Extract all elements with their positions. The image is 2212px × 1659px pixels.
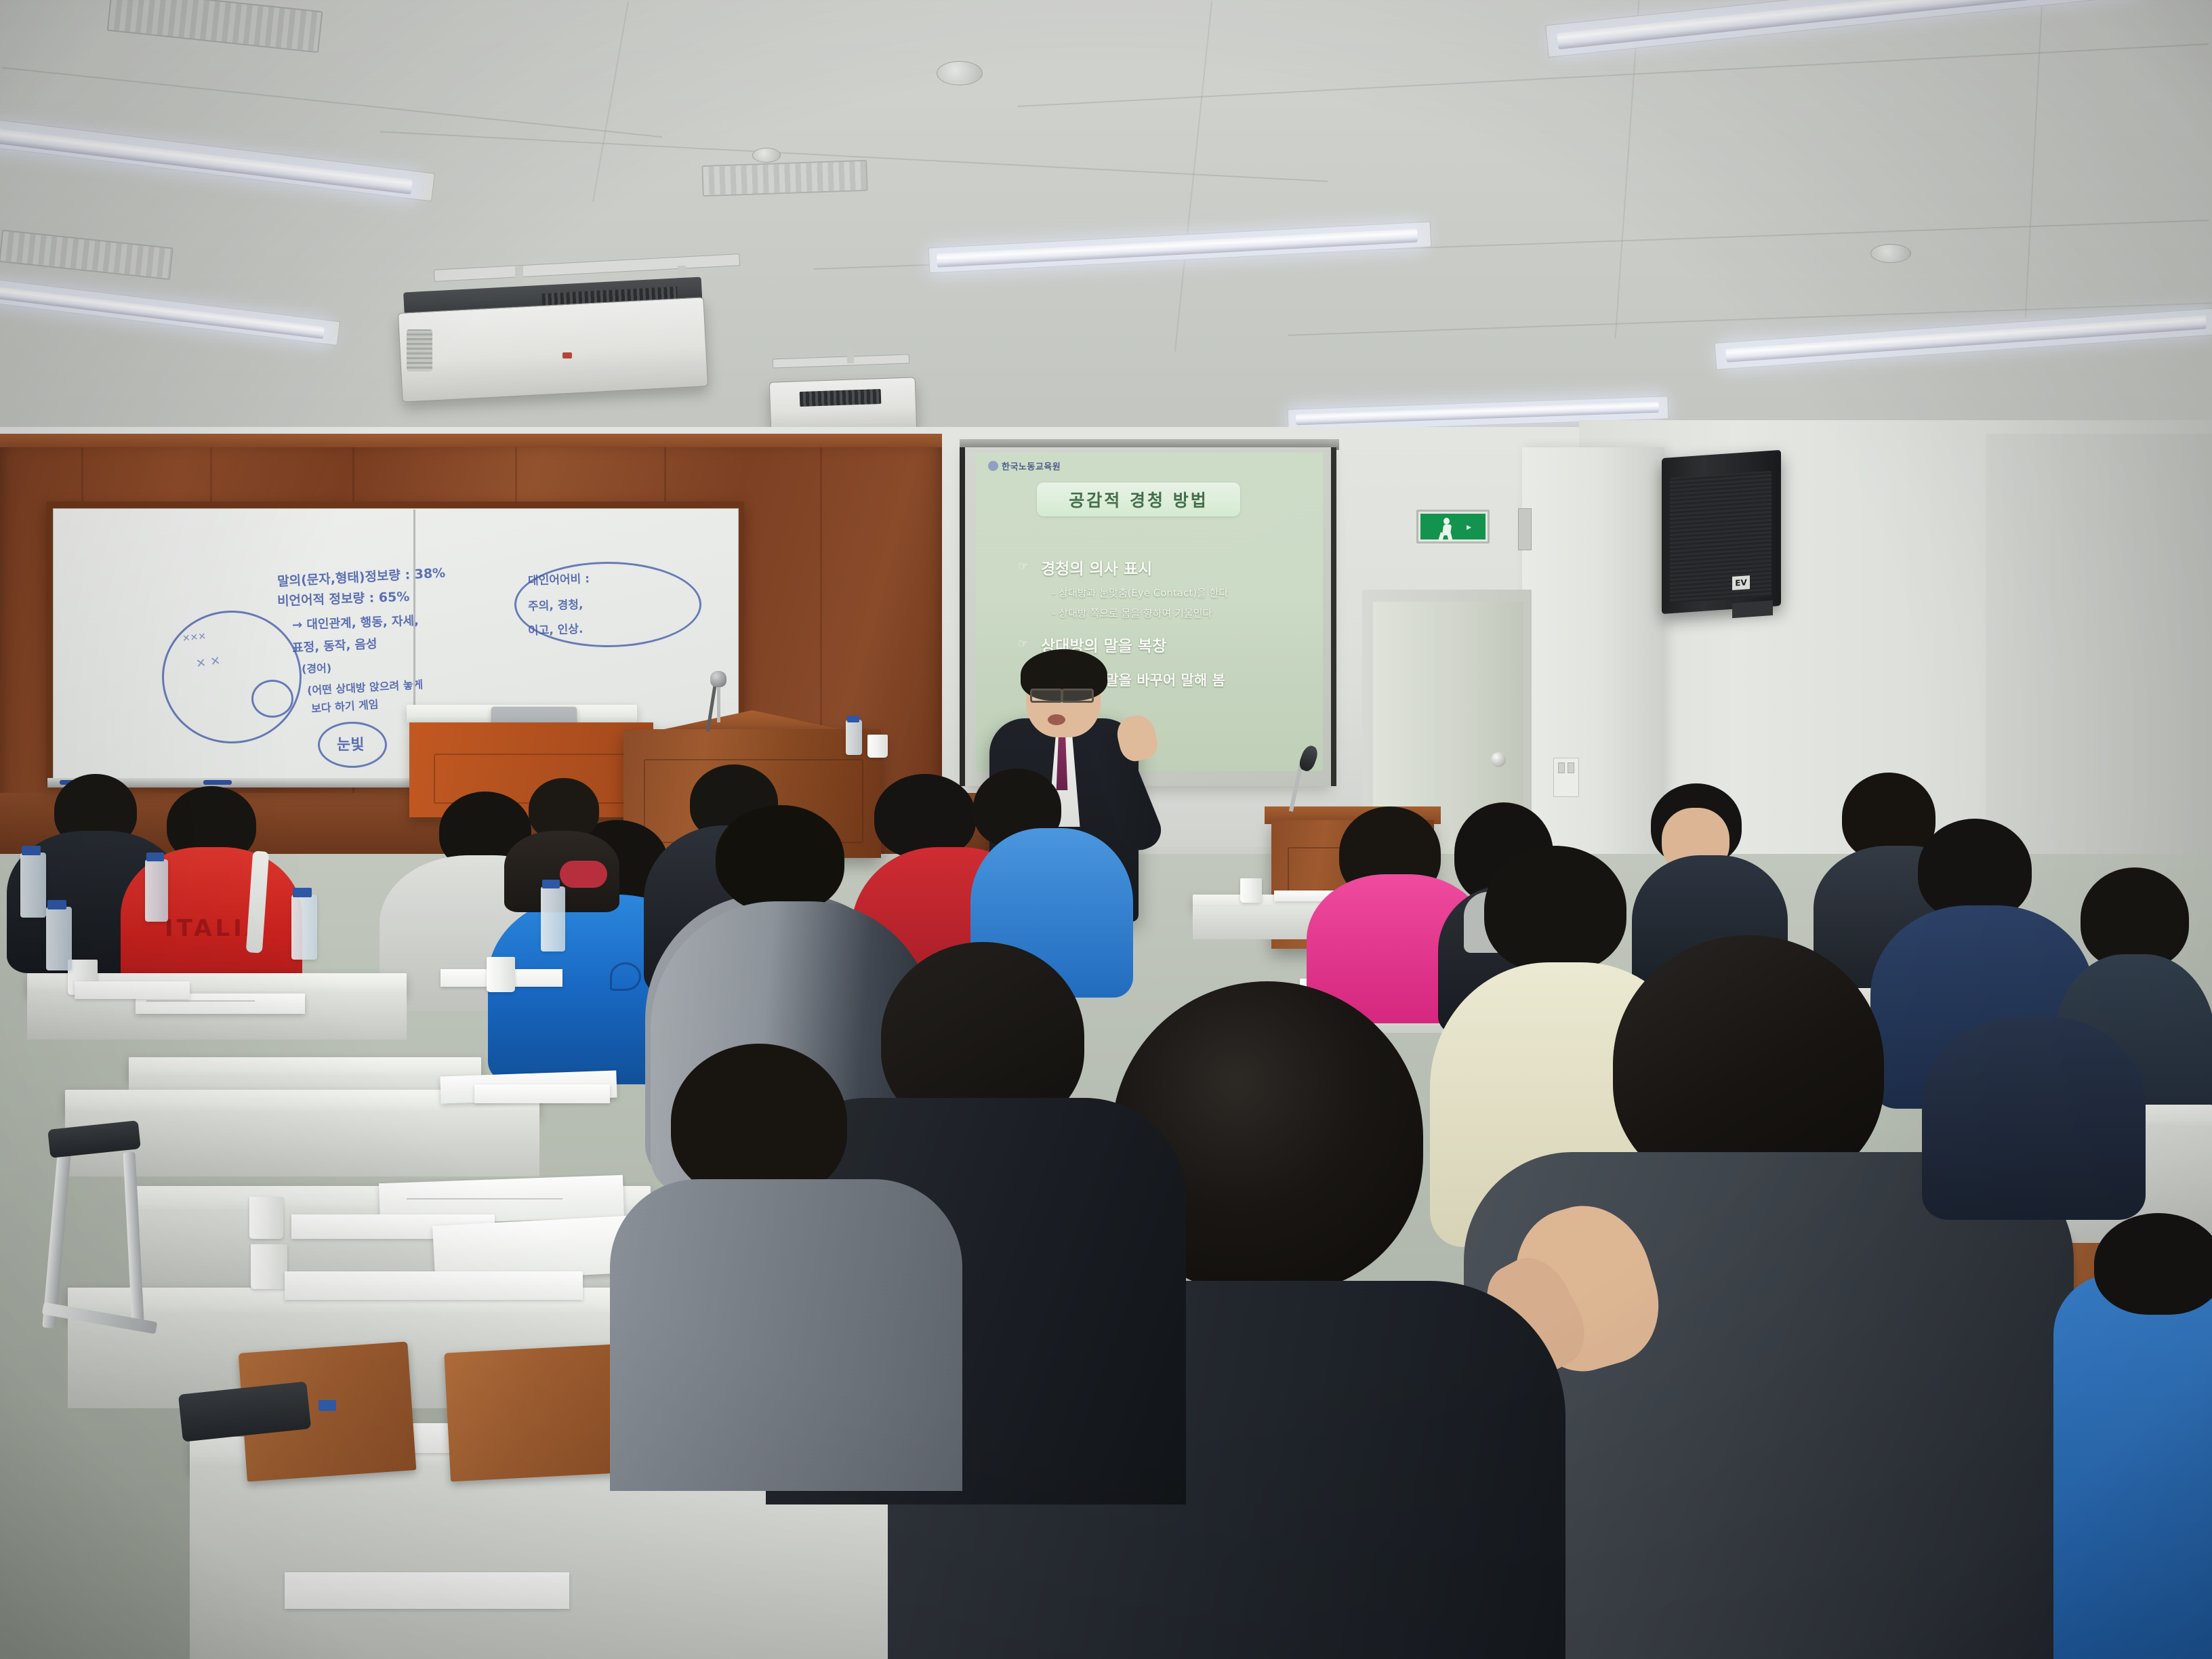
pointing-hand-icon: ☞ [1018,637,1028,651]
slide-title-panel: 공감적 경청 방법 [1037,483,1240,516]
attendee-torso [610,1179,962,1491]
smoke-detector-icon [1870,244,1911,263]
smoke-detector-icon [752,148,781,163]
whiteboard-note: 보다 하기 게임 [310,695,379,716]
slide-title: 공감적 경청 방법 [1069,487,1208,512]
ceiling-projector [398,297,708,402]
wooden-chair-back [444,1345,620,1482]
whiteboard-note: 표정, 동작, 음성 [291,634,377,657]
bottle-cap [542,880,560,888]
projector-side-vent [407,329,432,371]
whiteboard-note: (경어) [302,659,332,676]
scarf [560,861,607,888]
projector-vent [800,389,882,407]
handout[interactable] [75,981,190,999]
whiteboard-circle-annotation [251,680,293,718]
whiteboard-note: 비언어적 정보량 : 65% [277,587,410,610]
water-bottle[interactable] [46,907,72,970]
air-vent [701,160,867,197]
water-bottle[interactable] [846,720,862,755]
classroom-photo: 말의(문자,형태)정보량 : 38% 비언어적 정보량 : 65% → 대인관계… [0,0,2212,1659]
presenter-mouth [1048,714,1065,725]
smoke-detector-icon [937,61,983,85]
running-man-exit-icon [1443,518,1450,525]
door-closer [1518,508,1532,550]
bottle-cap [293,888,312,897]
water-bottle[interactable] [20,853,46,918]
whiteboard-circle-annotation [162,611,302,743]
bottle-cap [847,716,859,722]
presenter-glasses [1061,689,1094,703]
microphone[interactable] [710,671,726,687]
whiteboard-note: 말의(문자,형태)정보량 : 38% [276,563,445,590]
pointing-hand-icon: ☞ [1018,560,1028,573]
handout[interactable] [285,1271,583,1300]
slide-bullet-1: 경청의 의사 표시 [1041,556,1152,579]
ceiling [0,0,2212,447]
water-bottle[interactable] [541,886,565,951]
speaker-brand-logo: EV [1732,575,1750,590]
light-switch[interactable] [1558,762,1565,773]
exit-sign-face [1420,514,1486,539]
slide-subbullet-1a: - 상대방과 눈맞춤(Eye Contact)을 한다 [1052,586,1228,600]
bottle-cap [22,846,41,855]
attendee-head [718,805,844,912]
door-knob[interactable] [1491,752,1506,767]
chair-sticker [319,1400,336,1411]
whiteboard-note: → 대인관계, 행동, 자세, [292,611,419,634]
speaker-bracket [1732,600,1773,618]
slide-logo-text: 한국노동교육원 [1002,459,1061,472]
speaker-grill [1670,471,1771,603]
attendee-head [1484,846,1626,972]
whiteboard-note: (어떤 상대방 앉으려 놓게 [306,676,423,698]
slide-logo: 한국노동교육원 [988,459,1061,472]
water-bottle[interactable] [145,859,168,922]
projector-mount-pole [515,266,523,286]
marker[interactable] [203,780,232,785]
light-switch-plate[interactable] [1553,758,1579,797]
slide-subbullet-1b: - 상대방 쪽으로 몸을 향하여 기울인다 [1052,606,1212,620]
whiteboard-circle-annotation [514,562,701,647]
paper-cup[interactable] [867,735,888,758]
projector-status-led [562,352,572,359]
bottle-cap [47,900,66,909]
attendee-head [874,774,976,858]
paper-cup[interactable] [1240,878,1262,903]
presenter-glasses [1030,689,1063,703]
projector-mount-pole [847,347,854,363]
attendee-head [671,1044,847,1200]
bottle-cap [146,853,164,861]
whiteboard-circle-annotation [318,722,387,768]
logo-mark-icon [988,461,998,471]
handout[interactable] [285,1572,569,1609]
paper-cup[interactable] [487,957,515,992]
handout[interactable] [474,1084,610,1103]
jacket-logo-icon [610,962,641,991]
light-switch[interactable] [1568,762,1574,773]
water-bottle[interactable] [291,895,317,960]
attendee-head [2094,1213,2212,1315]
exit-arrow-icon: ▸ [1467,522,1471,533]
attendee-torso [1922,1017,2146,1220]
attendee-torso [2053,1274,2212,1659]
paper-cup[interactable] [251,1244,287,1289]
paper-cup[interactable] [249,1197,283,1239]
